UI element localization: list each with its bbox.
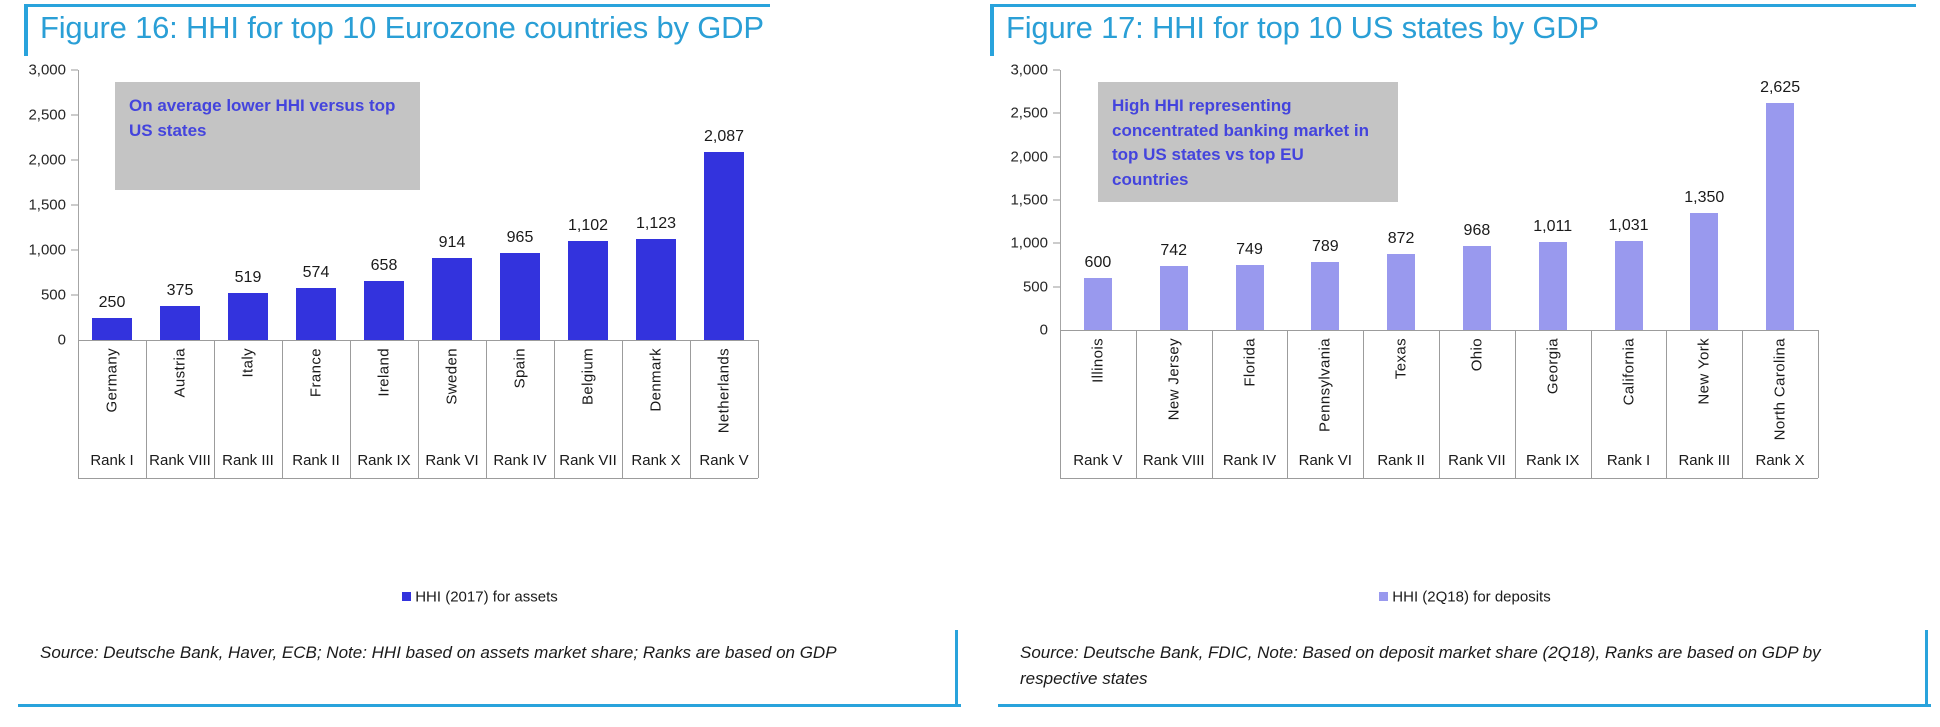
y-axis-tick-mark	[1053, 286, 1060, 287]
bar[interactable]	[432, 258, 472, 340]
category-label: Florida	[1241, 338, 1258, 387]
bar-value-label: 1,011	[1533, 218, 1572, 236]
bar-value-label: 872	[1388, 230, 1415, 248]
bar[interactable]	[364, 281, 404, 340]
category-cell-divider	[78, 340, 79, 478]
category-cell-divider	[1287, 330, 1288, 478]
bar[interactable]	[1539, 242, 1567, 330]
bar[interactable]	[1084, 278, 1112, 330]
y-axis-tick-label: 2,000	[1010, 148, 1048, 165]
bar[interactable]	[1311, 262, 1339, 330]
bar-value-label: 658	[371, 257, 398, 275]
y-axis-tick-label: 3,000	[28, 62, 66, 79]
rank-label: Rank VIII	[1143, 452, 1205, 469]
category-cell-divider	[758, 340, 759, 478]
category-label: Denmark	[648, 348, 665, 412]
category-label: Sweden	[444, 348, 461, 405]
source-bottom-rule	[18, 704, 961, 707]
bar[interactable]	[704, 152, 744, 340]
y-axis-tick-mark	[71, 295, 78, 296]
y-axis-tick-mark	[1053, 243, 1060, 244]
bar-value-label: 600	[1085, 254, 1112, 272]
category-label: Italy	[240, 348, 257, 378]
legend-swatch-icon	[402, 592, 411, 601]
rank-label: Rank VII	[1448, 452, 1506, 469]
y-axis-tick-mark	[1053, 200, 1060, 201]
figure-17-callout: High HHI representing concentrated banki…	[1098, 82, 1398, 202]
rank-label: Rank I	[90, 452, 133, 469]
y-axis-tick-label: 3,000	[1010, 62, 1048, 79]
figure-17-title: Figure 17: HHI for top 10 US states by G…	[1006, 10, 1599, 46]
bar-value-label: 574	[303, 264, 330, 282]
category-label: Pennsylvania	[1317, 338, 1334, 432]
category-cell-divider	[1060, 330, 1061, 478]
y-axis-tick-label: 2,500	[28, 107, 66, 124]
category-label: Texas	[1393, 338, 1410, 379]
category-label: Georgia	[1544, 338, 1561, 394]
rank-label: Rank IX	[1526, 452, 1579, 469]
figure-16-legend: HHI (2017) for assets	[0, 588, 960, 606]
figures-page: Figure 16: HHI for top 10 Eurozone count…	[0, 0, 1940, 727]
y-axis-tick-mark	[71, 205, 78, 206]
figure-16-legend-label: HHI (2017) for assets	[415, 589, 558, 606]
figure-17-legend: HHI (2Q18) for deposits	[990, 588, 1940, 606]
bar-value-label: 1,102	[568, 217, 608, 235]
category-cell-divider	[1818, 330, 1819, 478]
category-label: Illinois	[1089, 338, 1106, 383]
bar-value-label: 1,123	[636, 215, 676, 233]
y-axis-tick-mark	[71, 250, 78, 251]
title-left-bar	[24, 4, 28, 56]
bar[interactable]	[500, 253, 540, 340]
rank-label: Rank X	[631, 452, 680, 469]
y-axis-tick-label: 0	[58, 332, 66, 349]
category-label: California	[1620, 338, 1637, 405]
category-label: France	[308, 348, 325, 397]
rank-label: Rank III	[222, 452, 274, 469]
figure-16-panel: Figure 16: HHI for top 10 Eurozone count…	[0, 0, 960, 727]
figure-17-legend-label: HHI (2Q18) for deposits	[1392, 589, 1550, 606]
y-axis-tick-label: 0	[1040, 322, 1048, 339]
bar[interactable]	[1766, 103, 1794, 331]
category-label: North Carolina	[1772, 338, 1789, 440]
rank-label: Rank IV	[493, 452, 546, 469]
rank-label: Rank IX	[357, 452, 410, 469]
rank-label: Rank X	[1755, 452, 1804, 469]
title-top-rule	[990, 4, 1916, 7]
bar[interactable]	[1236, 265, 1264, 330]
y-axis-tick-mark	[71, 70, 78, 71]
y-axis-line	[78, 70, 79, 340]
rank-label: Rank VII	[559, 452, 617, 469]
category-cell-divider	[282, 340, 283, 478]
bar[interactable]	[1160, 266, 1188, 330]
figure-16-source-box: Source: Deutsche Bank, Haver, ECB; Note:…	[18, 630, 958, 722]
rank-label: Rank IV	[1223, 452, 1276, 469]
category-cell-divider	[1742, 330, 1743, 478]
bar-value-label: 965	[507, 229, 534, 247]
bar-value-label: 250	[99, 294, 126, 312]
bar[interactable]	[1615, 241, 1643, 330]
y-axis-tick-label: 500	[41, 287, 66, 304]
bar[interactable]	[1463, 246, 1491, 330]
y-axis-tick-label: 1,000	[28, 242, 66, 259]
rank-label: Rank V	[699, 452, 748, 469]
bar-value-label: 2,625	[1760, 79, 1800, 97]
figure-16-source-text: Source: Deutsche Bank, Haver, ECB; Note:…	[40, 640, 950, 666]
source-right-bar	[955, 630, 958, 704]
figure-17-source-box: Source: Deutsche Bank, FDIC, Note: Based…	[998, 630, 1928, 722]
category-cell-divider	[1591, 330, 1592, 478]
y-axis-tick-mark	[71, 115, 78, 116]
bar-value-label: 789	[1312, 238, 1339, 256]
category-label: Ohio	[1468, 338, 1485, 371]
y-axis-tick-mark	[1053, 70, 1060, 71]
category-cell-divider	[1363, 330, 1364, 478]
category-label: Belgium	[580, 348, 597, 405]
rank-label: Rank II	[1377, 452, 1425, 469]
bar[interactable]	[160, 306, 200, 340]
y-axis-tick-mark	[1053, 113, 1060, 114]
bar-value-label: 1,350	[1684, 189, 1724, 207]
y-axis-tick-mark	[71, 160, 78, 161]
category-cell-divider	[1439, 330, 1440, 478]
bar[interactable]	[568, 241, 608, 340]
bar-value-label: 749	[1236, 241, 1263, 259]
source-bottom-rule	[998, 704, 1931, 707]
category-label: Netherlands	[716, 348, 733, 433]
bar[interactable]	[228, 293, 268, 340]
category-cell-divider	[1515, 330, 1516, 478]
bar-value-label: 968	[1464, 222, 1491, 240]
category-cell-divider	[418, 340, 419, 478]
bar[interactable]	[92, 318, 132, 341]
y-axis-tick-label: 500	[1023, 278, 1048, 295]
category-cell-divider	[622, 340, 623, 478]
category-cell-divider	[1666, 330, 1667, 478]
category-band-rule	[78, 478, 758, 479]
y-axis-tick-label: 2,500	[1010, 105, 1048, 122]
bar-value-label: 742	[1160, 242, 1187, 260]
figure-17-source-text: Source: Deutsche Bank, FDIC, Note: Based…	[1020, 640, 1880, 691]
category-label: Spain	[512, 348, 529, 388]
category-cell-divider	[350, 340, 351, 478]
bar[interactable]	[296, 288, 336, 340]
bar-value-label: 2,087	[704, 128, 744, 146]
rank-label: Rank VI	[425, 452, 478, 469]
category-cell-divider	[554, 340, 555, 478]
category-cell-divider	[690, 340, 691, 478]
legend-swatch-icon	[1379, 592, 1388, 601]
category-label: Ireland	[376, 348, 393, 397]
y-axis-tick-label: 1,000	[1010, 235, 1048, 252]
y-axis-tick-mark	[1053, 156, 1060, 157]
bar[interactable]	[1387, 254, 1415, 330]
category-cell-divider	[1136, 330, 1137, 478]
bar[interactable]	[636, 239, 676, 340]
category-label: Austria	[172, 348, 189, 398]
y-axis-tick-label: 1,500	[28, 197, 66, 214]
y-axis-tick-label: 1,500	[1010, 192, 1048, 209]
rank-label: Rank II	[292, 452, 340, 469]
figure-16-callout: On average lower HHI versus top US state…	[115, 82, 420, 190]
category-cell-divider	[486, 340, 487, 478]
rank-label: Rank I	[1607, 452, 1650, 469]
category-label: New Jersey	[1165, 338, 1182, 420]
bar[interactable]	[1690, 213, 1718, 330]
bar-value-label: 914	[439, 234, 466, 252]
category-cell-divider	[214, 340, 215, 478]
bar-value-label: 519	[235, 269, 262, 287]
title-top-rule	[24, 4, 770, 7]
bar-value-label: 375	[167, 282, 194, 300]
title-left-bar	[990, 4, 994, 56]
y-axis-tick-label: 2,000	[28, 152, 66, 169]
y-axis-line	[1060, 70, 1061, 330]
bar-value-label: 1,031	[1608, 217, 1648, 235]
figure-17-title-block: Figure 17: HHI for top 10 US states by G…	[990, 0, 1940, 58]
category-band-rule	[1060, 478, 1818, 479]
figure-16-title-block: Figure 16: HHI for top 10 Eurozone count…	[0, 0, 960, 58]
source-right-bar	[1925, 630, 1928, 704]
rank-label: Rank VI	[1299, 452, 1352, 469]
figure-17-panel: Figure 17: HHI for top 10 US states by G…	[990, 0, 1940, 727]
rank-label: Rank V	[1073, 452, 1122, 469]
category-cell-divider	[1212, 330, 1213, 478]
category-cell-divider	[146, 340, 147, 478]
rank-label: Rank III	[1678, 452, 1730, 469]
category-label: New York	[1696, 338, 1713, 405]
figure-16-title: Figure 16: HHI for top 10 Eurozone count…	[40, 10, 764, 46]
category-label: Germany	[104, 348, 121, 413]
rank-label: Rank VIII	[149, 452, 211, 469]
